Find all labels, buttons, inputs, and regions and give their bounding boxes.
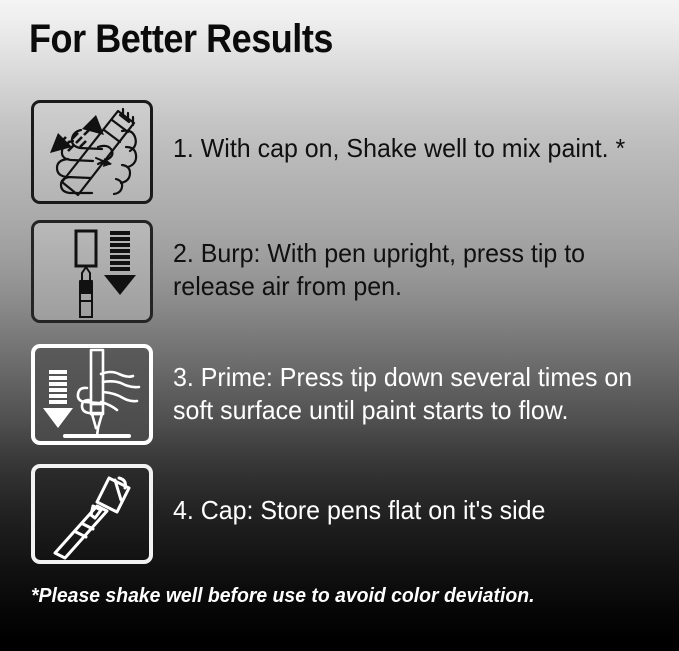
step-3-text: 3. Prime: Press tip down several times o… <box>173 361 653 427</box>
step-2-text: 2. Burp: With pen upright, press tip to … <box>173 237 653 303</box>
step-4-text: 4. Cap: Store pens flat on it's side <box>173 494 653 527</box>
prime-pen-icon <box>31 344 153 445</box>
step-1-text: 1. With cap on, Shake well to mix paint.… <box>173 132 653 165</box>
burp-pen-icon <box>31 220 153 323</box>
page-title: For Better Results <box>29 16 333 62</box>
instruction-panel: For Better Results <box>0 0 679 651</box>
cap-pen-icon <box>31 464 153 564</box>
footnote-text: *Please shake well before use to avoid c… <box>31 583 535 609</box>
shake-pen-icon <box>31 100 153 204</box>
